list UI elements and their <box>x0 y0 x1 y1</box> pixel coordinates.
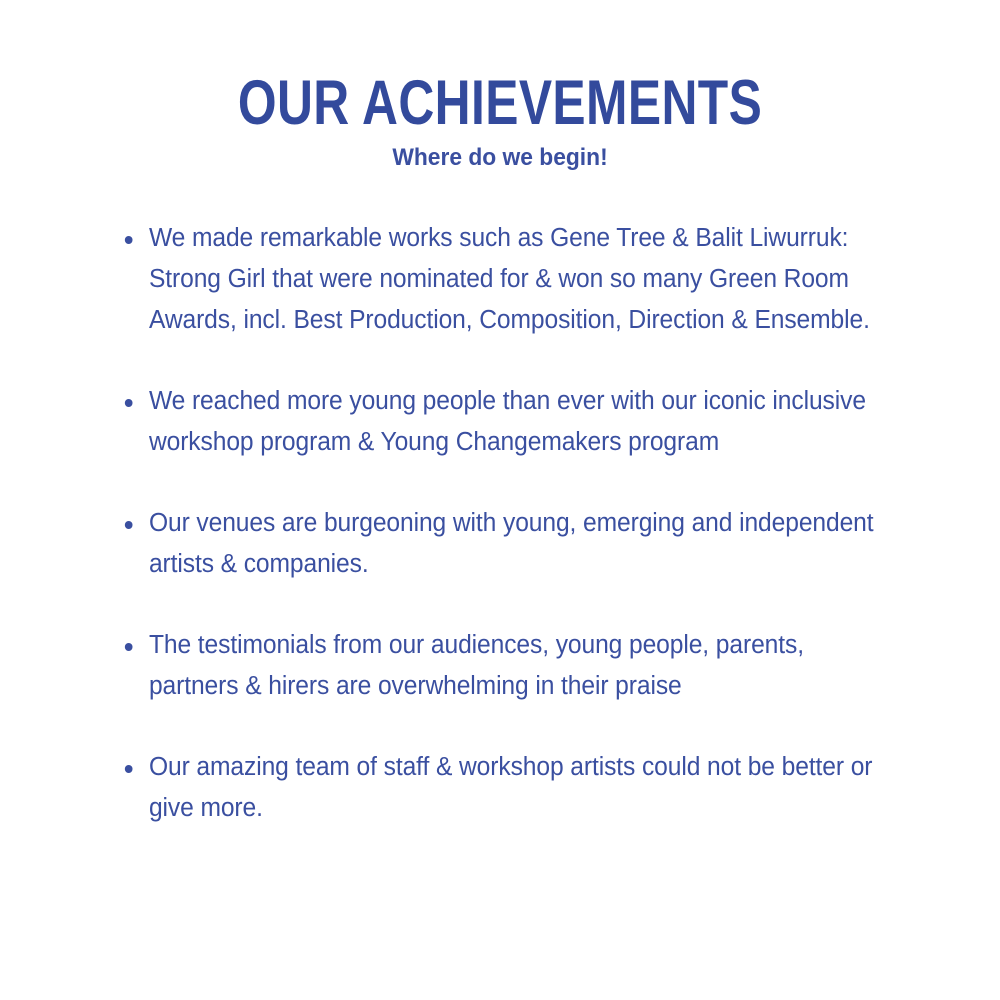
list-item: We made remarkable works such as Gene Tr… <box>120 218 882 341</box>
list-item: Our venues are burgeoning with young, em… <box>120 503 882 585</box>
page-title: OUR ACHIEVEMENTS <box>105 68 895 138</box>
bullet-point-icon <box>125 399 133 407</box>
bullet-point-icon <box>125 521 133 529</box>
achievements-page: OUR ACHIEVEMENTS Where do we begin! We m… <box>0 0 1000 1000</box>
achievements-list: We made remarkable works such as Gene Tr… <box>120 218 910 829</box>
list-item-text: We reached more young people than ever w… <box>149 381 882 463</box>
list-item-text: We made remarkable works such as Gene Tr… <box>149 218 882 341</box>
page-subtitle: Where do we begin! <box>25 142 975 174</box>
list-item: We reached more young people than ever w… <box>120 381 882 463</box>
list-item-text: Our amazing team of staff & workshop art… <box>149 747 882 829</box>
list-item: Our amazing team of staff & workshop art… <box>120 747 882 829</box>
bullet-point-icon <box>125 236 133 244</box>
bullet-point-icon <box>125 643 133 651</box>
list-item-text: The testimonials from our audiences, you… <box>149 625 882 707</box>
list-item: The testimonials from our audiences, you… <box>120 625 882 707</box>
bullet-point-icon <box>125 765 133 773</box>
list-item-text: Our venues are burgeoning with young, em… <box>149 503 882 585</box>
